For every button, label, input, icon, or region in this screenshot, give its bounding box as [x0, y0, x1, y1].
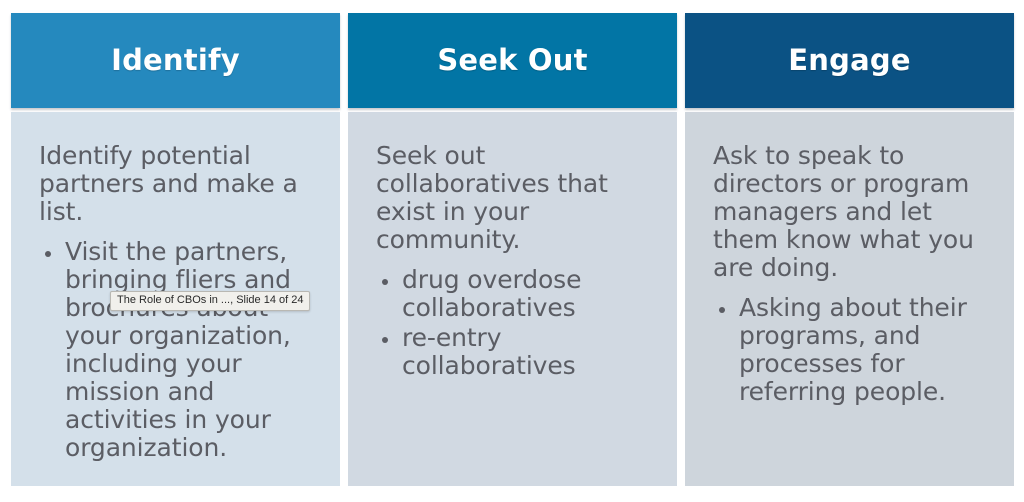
column-title-seek-out: Seek Out [437, 45, 587, 77]
column-seek-out: Seek Out Seek out collaboratives that ex… [348, 13, 677, 486]
column-title-identify: Identify [111, 45, 240, 77]
list-item: Asking about their programs, and process… [713, 294, 998, 406]
slide-canvas: Identify Identify potential partners and… [0, 0, 1024, 502]
column-paragraph-seek-out: Seek out collaboratives that exist in yo… [376, 142, 661, 254]
list-item: drug overdose collaboratives [376, 266, 661, 322]
column-title-engage: Engage [788, 45, 910, 77]
bullet-list-engage: Asking about their programs, and process… [713, 294, 998, 406]
column-header-engage: Engage [685, 13, 1014, 108]
column-body-seek-out: Seek out collaboratives that exist in yo… [348, 112, 677, 486]
bullet-list-seek-out: drug overdose collaboratives re-entry co… [376, 266, 661, 380]
column-identify: Identify Identify potential partners and… [11, 13, 340, 486]
column-paragraph-engage: Ask to speak to directors or program man… [713, 142, 998, 282]
three-column-layout: Identify Identify potential partners and… [11, 13, 1014, 486]
list-item: re-entry collaboratives [376, 324, 661, 380]
column-header-seek-out: Seek Out [348, 13, 677, 108]
column-paragraph-identify: Identify potential partners and make a l… [39, 142, 324, 226]
column-body-engage: Ask to speak to directors or program man… [685, 112, 1014, 486]
list-item: Visit the partners, bringing fliers and … [39, 238, 324, 462]
column-engage: Engage Ask to speak to directors or prog… [685, 13, 1014, 486]
bullet-list-identify: Visit the partners, bringing fliers and … [39, 238, 324, 462]
column-header-identify: Identify [11, 13, 340, 108]
slide-position-tooltip: The Role of CBOs in ..., Slide 14 of 24 [110, 291, 310, 311]
